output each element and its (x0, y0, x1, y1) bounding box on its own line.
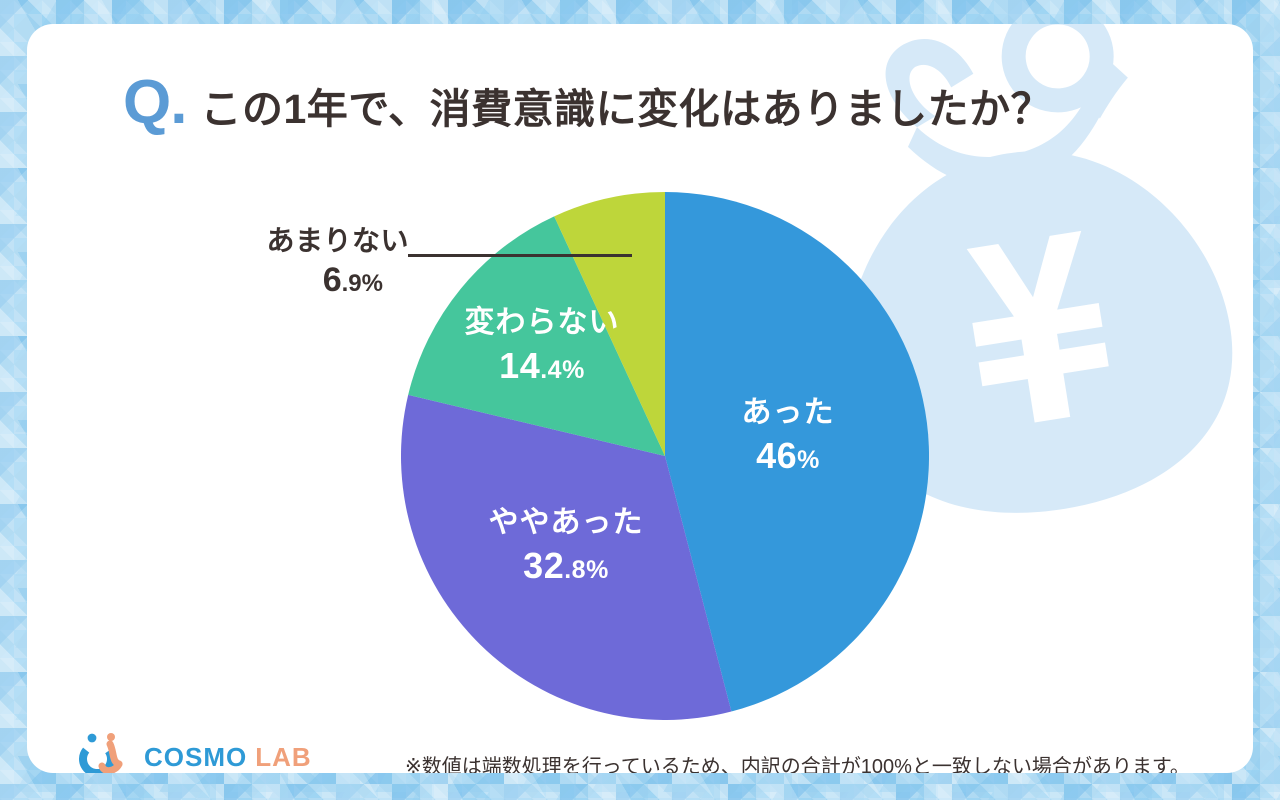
content-card: Q. この1年で、消費意識に変化はありましたか？ あった 46% ややあった (27, 24, 1253, 773)
footnote-text: ※数値は端数処理を行っているため、内訳の合計が100%と一致しない場合があります… (405, 750, 1190, 773)
pie-label-yaya-atta-name: ややあった (441, 506, 691, 541)
logo-cosmo-text: COSMO (144, 742, 247, 772)
pie-label-yaya-atta: ややあった 32.8% (441, 506, 691, 587)
pie-label-amarinai-name: あまりない (213, 224, 409, 258)
cosmo-lab-mark-icon (79, 730, 135, 773)
q-mark: Q. (123, 72, 186, 134)
pie-label-kawaranai: 変わらない 14.4% (431, 306, 653, 387)
pie-label-amarinai-value: 6.9% (213, 260, 409, 301)
logo-wordmark: COSMOLAB (144, 744, 312, 770)
pie-label-atta-name: あった (683, 396, 893, 431)
pie-label-kawaranai-value: 14.4% (431, 345, 653, 387)
logo-lab-text: LAB (255, 742, 311, 772)
slide-root: Q. この1年で、消費意識に変化はありましたか？ あった 46% ややあった (0, 0, 1280, 800)
pie-label-atta-value: 46% (683, 435, 893, 477)
cosmo-lab-logo[interactable]: COSMOLAB (79, 730, 312, 773)
pie-label-amarinai: あまりない 6.9% (213, 224, 409, 300)
pie-label-yaya-atta-value: 32.8% (441, 545, 691, 587)
pie-label-atta: あった 46% (683, 396, 893, 477)
page-title: この1年で、消費意識に変化はありましたか？ (200, 89, 1052, 130)
pie-label-kawaranai-name: 変わらない (431, 306, 653, 341)
callout-leader-line (408, 254, 632, 257)
question-header: Q. この1年で、消費意識に変化はありましたか？ (123, 72, 1052, 134)
